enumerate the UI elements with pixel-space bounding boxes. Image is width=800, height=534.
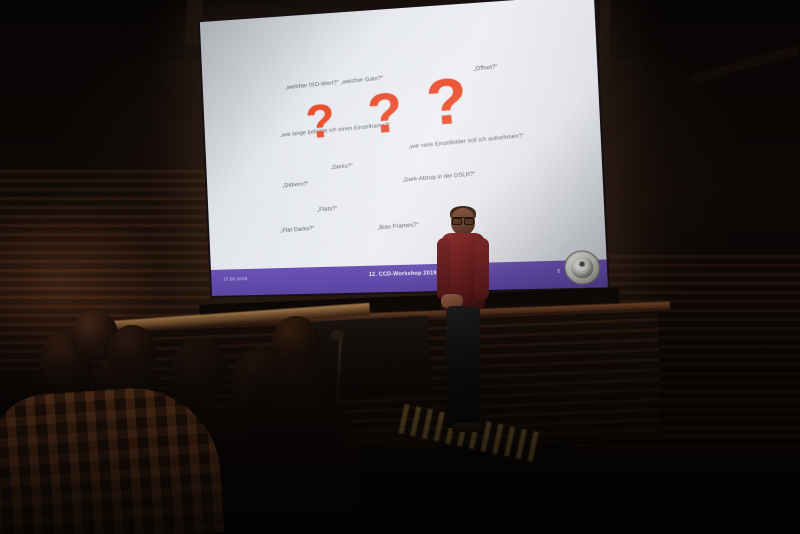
- slide-date: 27.09.2019: [223, 276, 247, 282]
- slide-question-mark: ?: [424, 72, 469, 134]
- slide-question-mark: ?: [304, 99, 336, 144]
- slide-question-label: „Darks?“: [331, 163, 354, 171]
- slide-question-label: „Flat Darks?“: [280, 226, 315, 235]
- lecture-hall-photo: 27.09.2019 12. CCD-Workshop 2019 2 ✸ „we…: [0, 0, 800, 534]
- presenter-left-sleeve: [437, 238, 451, 300]
- slide-question-label: „Dark-Abzug in der DSLR?“: [402, 171, 476, 183]
- slide-question-label: „Offset?“: [473, 64, 498, 73]
- projection-screen-surface: 27.09.2019 12. CCD-Workshop 2019 2 ✸ „we…: [200, 0, 608, 296]
- foreground-shadow-overlay: [0, 304, 800, 534]
- slide-question-mark: ?: [366, 87, 405, 140]
- slide-page-number: 2: [557, 268, 560, 273]
- presentation-slide: 27.09.2019 12. CCD-Workshop 2019 2 ✸ „we…: [200, 0, 608, 296]
- projection-screen: 27.09.2019 12. CCD-Workshop 2019 2 ✸ „we…: [198, 0, 611, 298]
- presenter-glasses-icon: [452, 217, 474, 223]
- slide-title: 12. CCD-Workshop 2019: [369, 270, 437, 278]
- slide-question-label: „Dithern?“: [282, 182, 309, 190]
- slide-question-label: „Bias Frames?“: [377, 222, 419, 231]
- presenter-right-sleeve: [475, 238, 489, 300]
- logo-star-icon: ✸: [565, 259, 599, 272]
- slide-question-label: „Flats?“: [317, 206, 338, 214]
